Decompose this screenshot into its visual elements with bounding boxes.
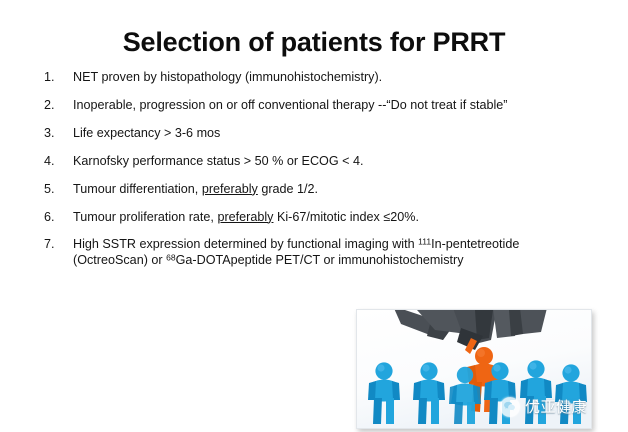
list-item-text: Life expectancy > 3-6 mos [73,126,564,141]
list-item: 1. NET proven by histopathology (immunoh… [44,70,564,85]
list-item-text: High SSTR expression determined by funct… [73,237,564,267]
list-item-number: 4. [44,154,66,169]
list-item-number: 3. [44,126,66,141]
list-item-number: 7. [44,237,66,252]
list-item-text-segment: Ga-DOTApeptide PET/CT or immunohistochem… [176,253,464,267]
selection-illustration: 优亚健康 [356,309,592,429]
list-item-text-after: Ki-67/mitotic index ≤20%. [273,210,419,224]
list-item: 2. Inoperable, progression on or off con… [44,98,564,113]
criteria-list: 1. NET proven by histopathology (immunoh… [44,70,564,280]
list-item-text-before: Tumour proliferation rate, [73,210,217,224]
isotope-superscript: 68 [166,252,176,262]
list-item-number: 5. [44,182,66,197]
isotope-superscript: 111 [418,237,431,247]
page-title: Selection of patients for PRRT [0,27,628,58]
list-item-text: Karnofsky performance status > 50 % or E… [73,154,564,169]
list-item-number: 6. [44,210,66,225]
illustration-graphic [357,310,591,428]
list-item-text-segment: High SSTR expression determined by funct… [73,237,418,251]
list-item: 3. Life expectancy > 3-6 mos [44,126,564,141]
list-item-text: NET proven by histopathology (immunohist… [73,70,564,85]
list-item: 6. Tumour proliferation rate, preferably… [44,210,564,225]
slide-canvas: Selection of patients for PRRT 1. NET pr… [0,0,628,432]
list-item-text: Inoperable, progression on or off conven… [73,98,564,113]
list-item-emphasis: preferably [217,210,273,224]
list-item-number: 2. [44,98,66,113]
list-item: 5. Tumour differentiation, preferably gr… [44,182,564,197]
list-item-text: Tumour differentiation, preferably grade… [73,182,564,197]
list-item: 7. High SSTR expression determined by fu… [44,237,564,267]
list-item-emphasis: preferably [202,182,258,196]
list-item-text-before: Tumour differentiation, [73,182,202,196]
list-item-number: 1. [44,70,66,85]
list-item-text-after: grade 1/2. [258,182,318,196]
list-item-text: Tumour proliferation rate, preferably Ki… [73,210,564,225]
list-item: 4. Karnofsky performance status > 50 % o… [44,154,564,169]
